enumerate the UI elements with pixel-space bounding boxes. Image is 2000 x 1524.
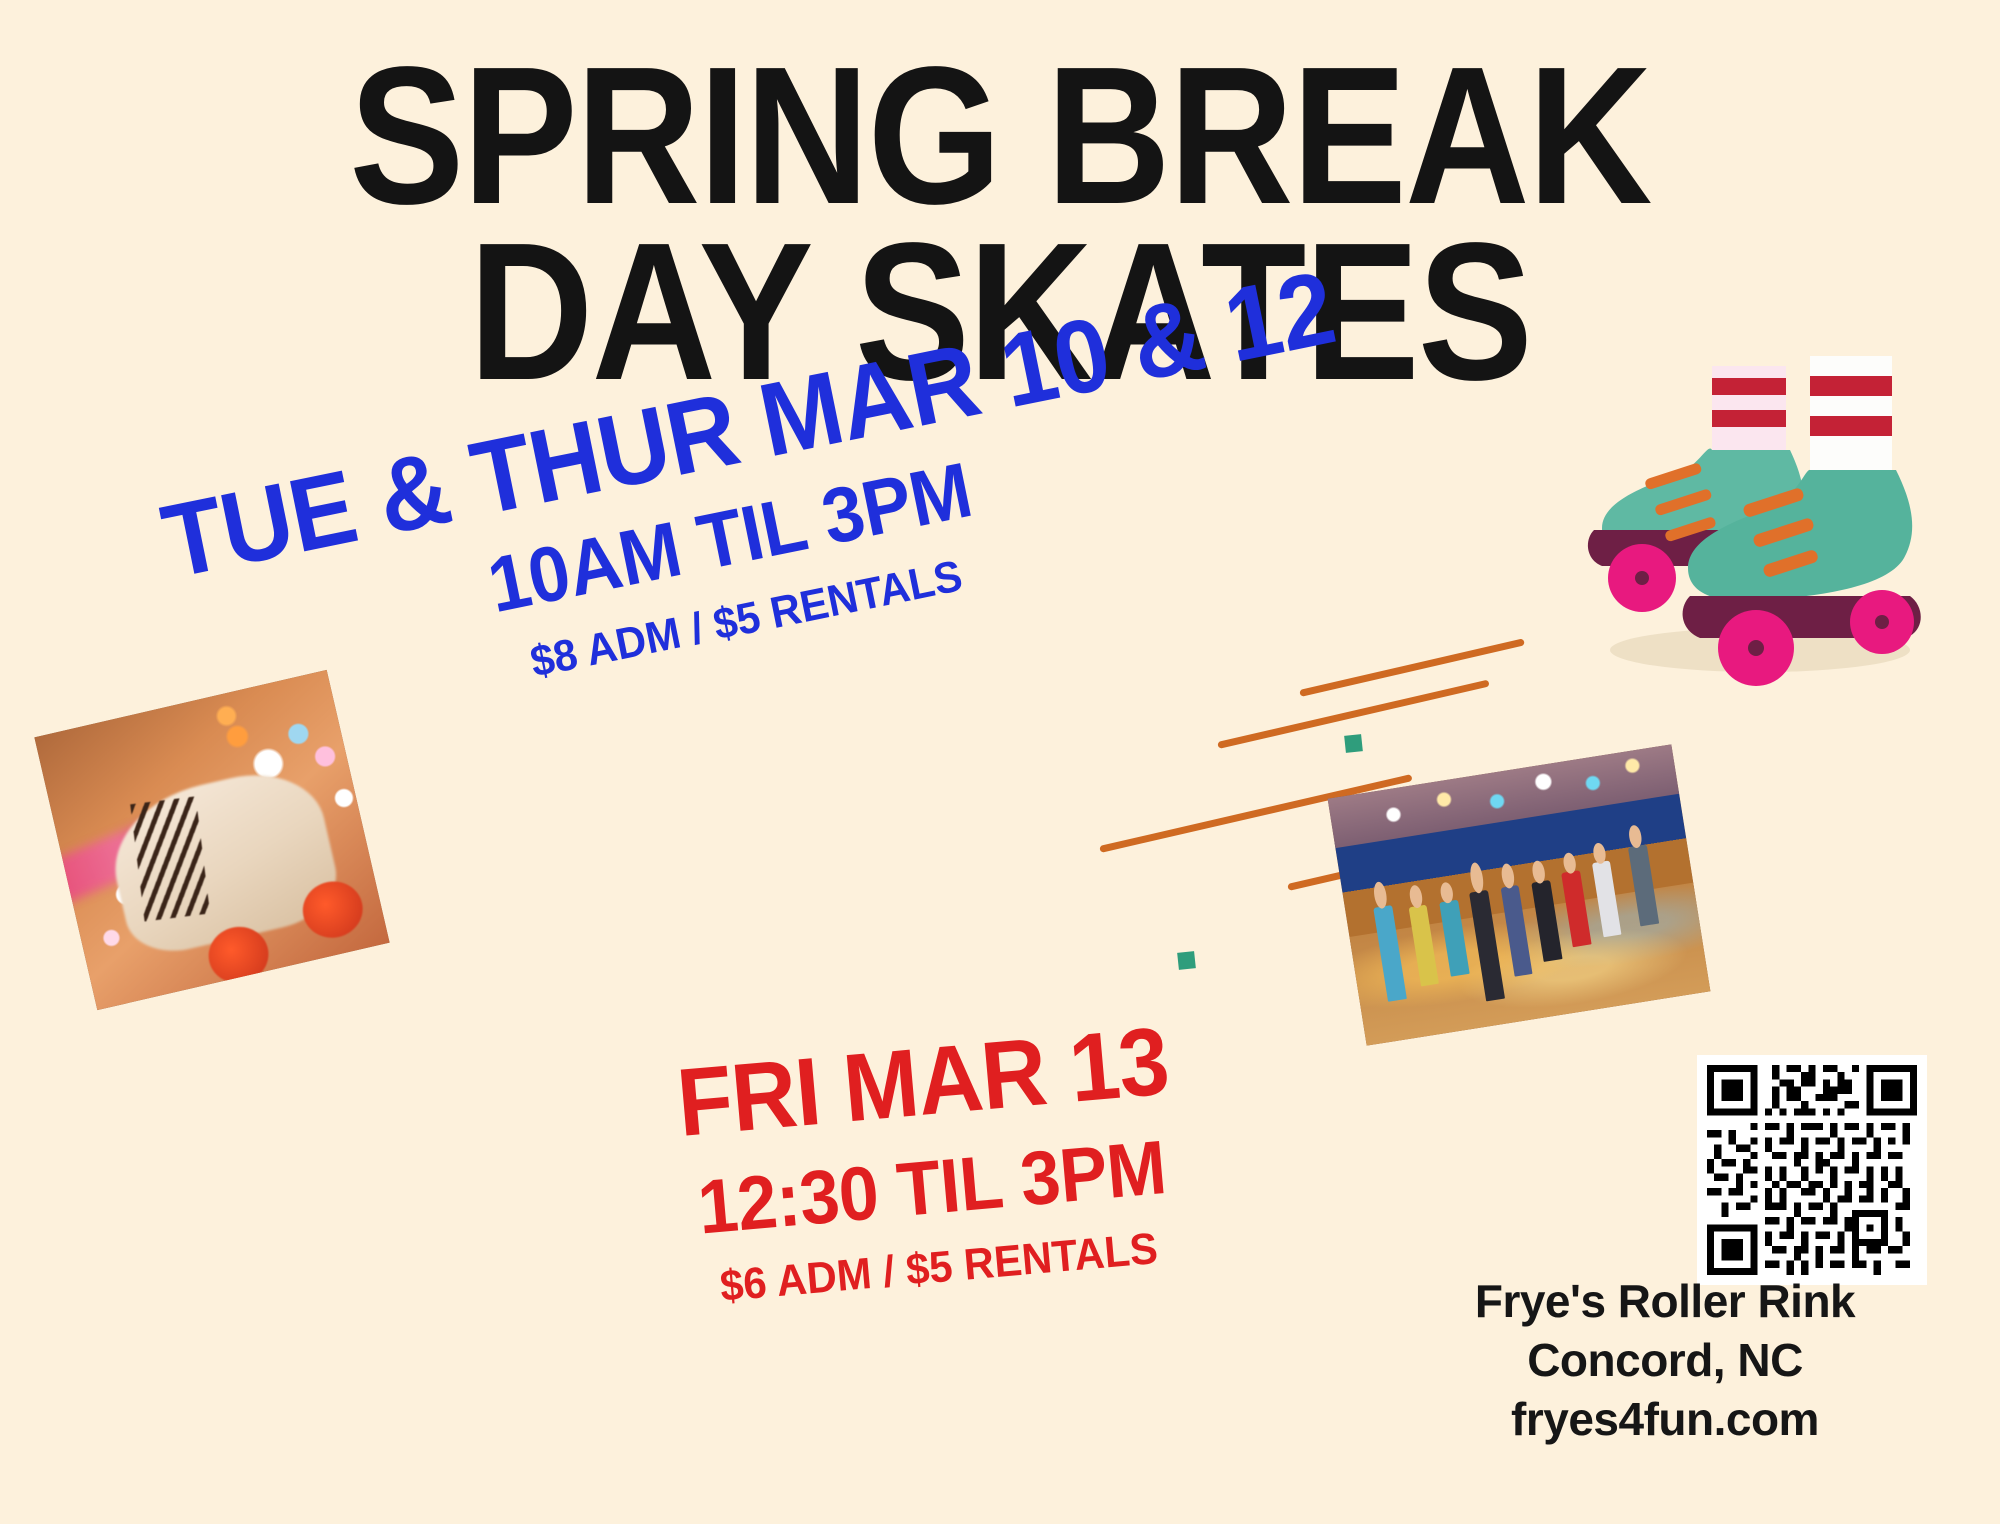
decor-square-3: [1177, 951, 1196, 970]
photo-rink-skaters: [1328, 744, 1711, 1045]
qr-code-icon: [1707, 1065, 1917, 1275]
decor-line-4: [1299, 638, 1525, 697]
event-block-fri: FRI MAR 13 12:30 TIL 3PM $6 ADM / $5 REN…: [540, 1002, 1320, 1325]
poster-canvas: SPRING BREAK DAY SKATES: [0, 0, 2000, 1524]
venue-website[interactable]: fryes4fun.com: [1430, 1390, 1900, 1449]
photo-vintage-skate: [34, 670, 389, 1010]
photo-right-content: [1328, 744, 1711, 1045]
roller-skates-icon: [1560, 330, 1980, 690]
decor-square-1: [1344, 734, 1363, 753]
skate-laces-shape: [130, 796, 210, 921]
contact-info: Frye's Roller Rink Concord, NC fryes4fun…: [1430, 1272, 1900, 1449]
photo-left-content: [34, 670, 389, 1010]
venue-city: Concord, NC: [1430, 1331, 1900, 1390]
qr-code[interactable]: [1697, 1055, 1927, 1285]
venue-name: Frye's Roller Rink: [1430, 1272, 1900, 1331]
roller-skates-illustration: [1560, 330, 1980, 690]
